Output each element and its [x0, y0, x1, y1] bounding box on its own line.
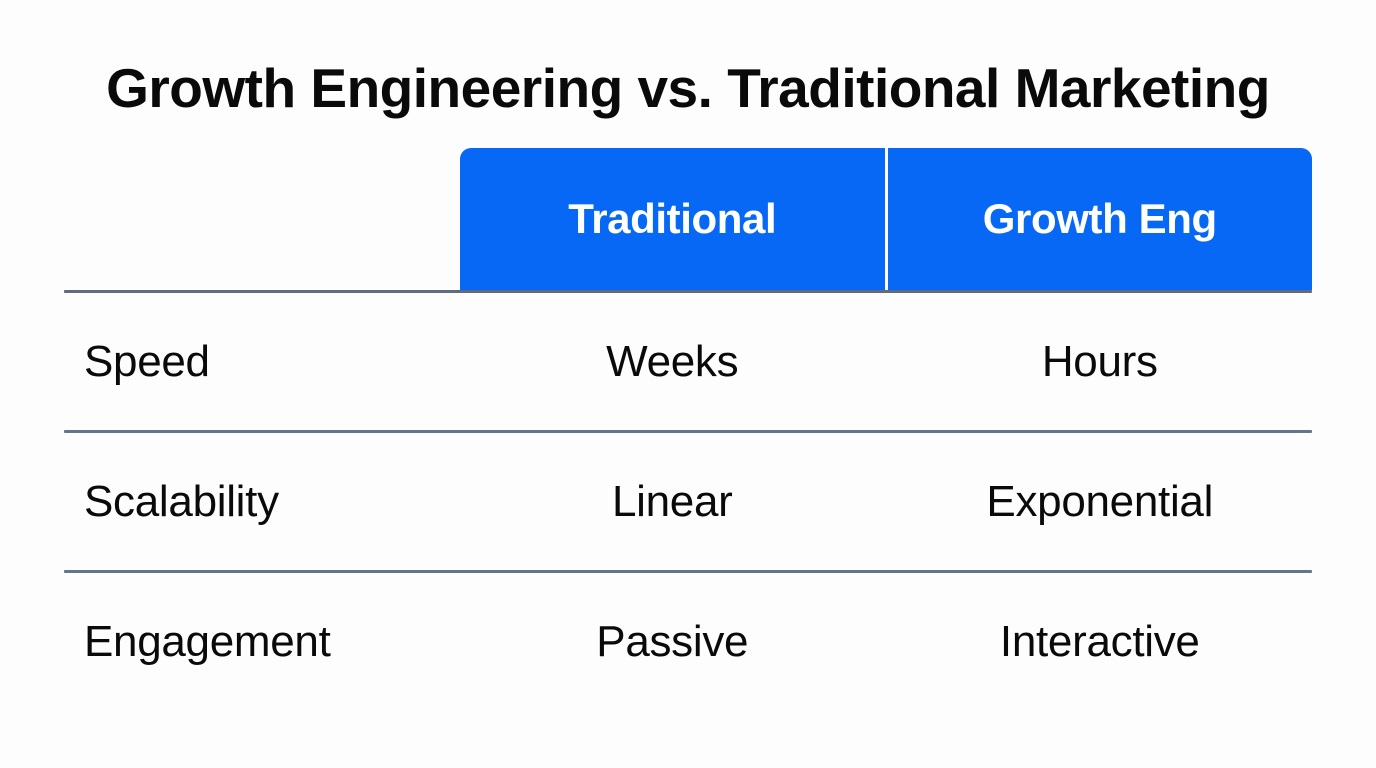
column-header-growth-eng: Growth Eng	[888, 148, 1313, 290]
cell-engagement-growth-eng: Interactive	[888, 617, 1313, 667]
comparison-table-slide: Growth Engineering vs. Traditional Marke…	[0, 0, 1376, 768]
cell-speed-growth-eng: Hours	[888, 337, 1313, 387]
row-label-scalability: Scalability	[64, 477, 460, 527]
cell-speed-traditional: Weeks	[460, 337, 885, 387]
table-row: Scalability Linear Exponential	[64, 433, 1312, 570]
table-corner-cell	[64, 148, 460, 290]
cell-engagement-traditional: Passive	[460, 617, 885, 667]
comparison-table: Traditional Growth Eng Speed Weeks Hours…	[64, 148, 1312, 710]
cell-scalability-traditional: Linear	[460, 477, 885, 527]
page-title: Growth Engineering vs. Traditional Marke…	[64, 48, 1312, 128]
table-header-row: Traditional Growth Eng	[64, 148, 1312, 290]
row-label-speed: Speed	[64, 337, 460, 387]
row-label-engagement: Engagement	[64, 617, 460, 667]
cell-scalability-growth-eng: Exponential	[888, 477, 1313, 527]
column-header-traditional: Traditional	[460, 148, 885, 290]
table-row: Engagement Passive Interactive	[64, 573, 1312, 710]
table-row: Speed Weeks Hours	[64, 293, 1312, 430]
